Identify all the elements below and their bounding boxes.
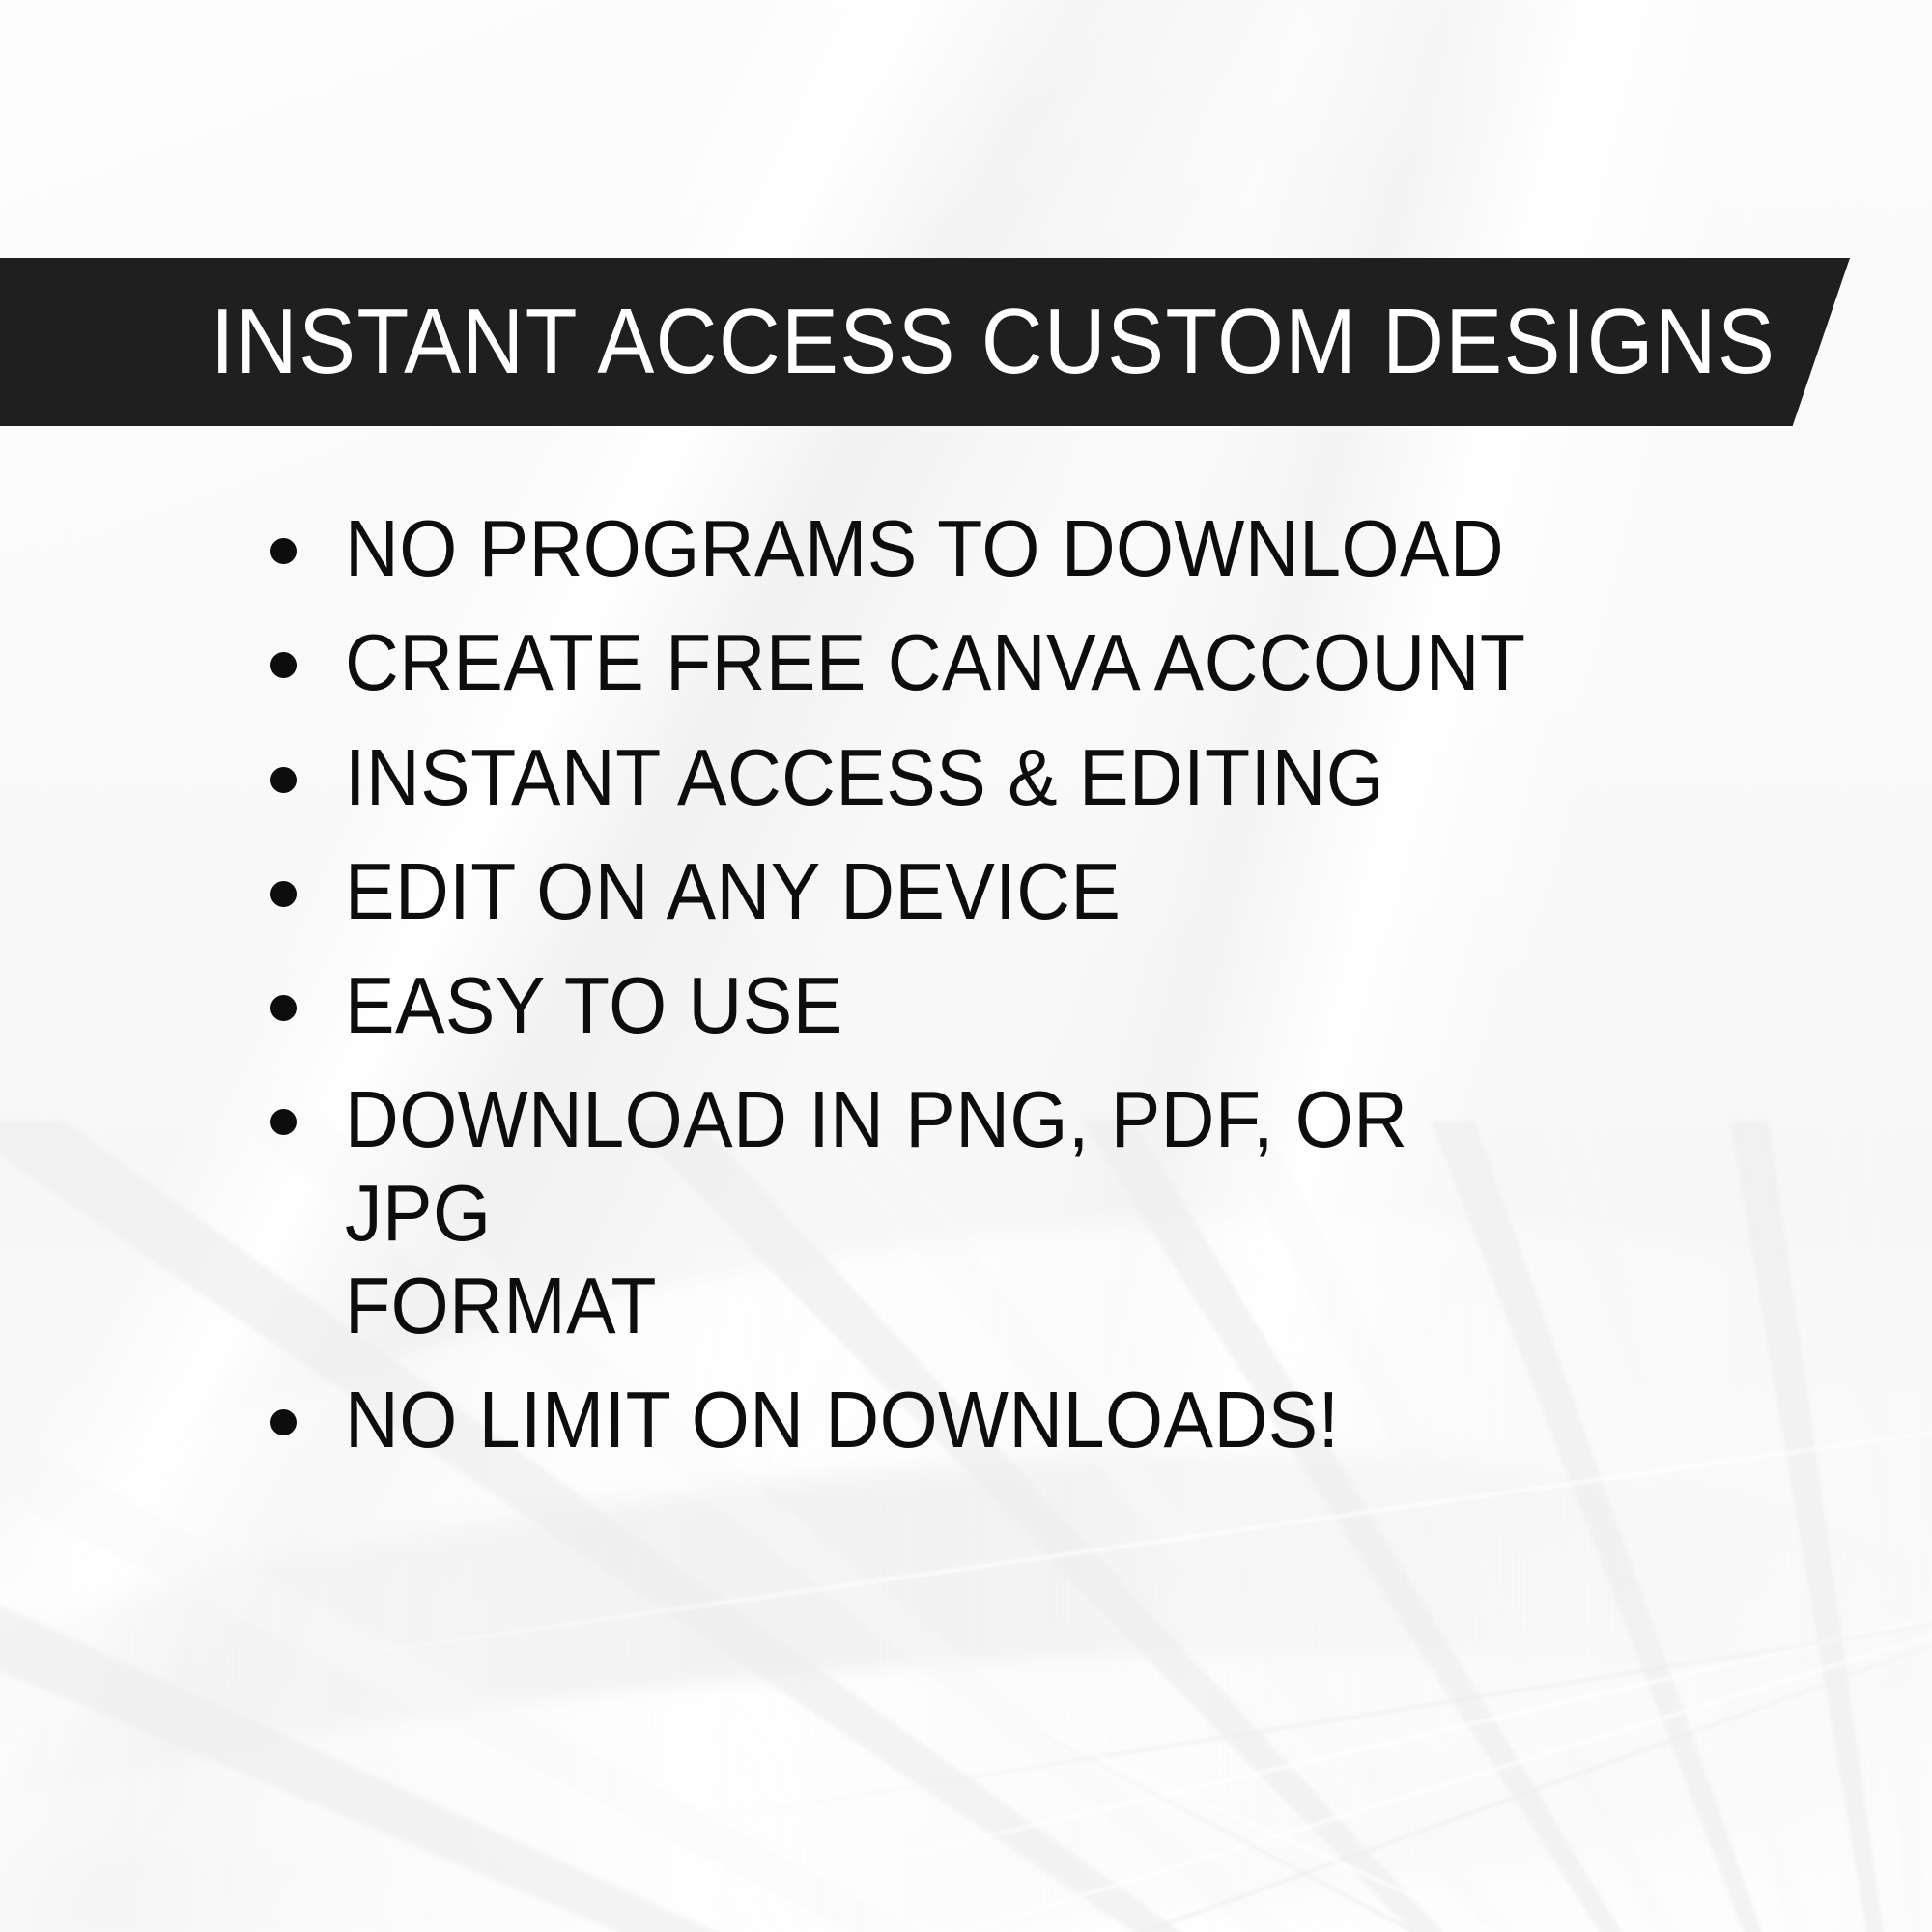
list-item-label: NO PROGRAMS TO DOWNLOAD xyxy=(345,502,1504,595)
bullet-dot-icon xyxy=(270,1409,297,1435)
list-item: EDIT ON ANY DEVICE xyxy=(270,845,1642,938)
bullet-dot-icon xyxy=(270,881,297,907)
list-item-label: INSTANT ACCESS & EDITING xyxy=(345,731,1384,824)
list-item-label: EASY TO USE xyxy=(345,959,843,1052)
bullet-dot-icon xyxy=(270,1109,297,1135)
bullet-dot-icon xyxy=(270,538,297,564)
list-item: NO LIMIT ON DOWNLOADS! xyxy=(270,1374,1642,1466)
header-banner: INSTANT ACCESS CUSTOM DESIGNS xyxy=(0,258,1850,426)
poster-canvas: INSTANT ACCESS CUSTOM DESIGNS NO PROGRAM… xyxy=(0,0,1932,1932)
feature-list: NO PROGRAMS TO DOWNLOAD CREATE FREE CANV… xyxy=(270,502,1642,1488)
bullet-dot-icon xyxy=(270,652,297,678)
list-item-label: EDIT ON ANY DEVICE xyxy=(345,845,1121,938)
list-item: DOWNLOAD IN PNG, PDF, OR JPG FORMAT xyxy=(270,1073,1642,1352)
list-item: CREATE FREE CANVA ACCOUNT xyxy=(270,616,1642,709)
list-item-label: NO LIMIT ON DOWNLOADS! xyxy=(345,1374,1340,1466)
list-item-label: DOWNLOAD IN PNG, PDF, OR JPG FORMAT xyxy=(345,1073,1551,1352)
list-item: EASY TO USE xyxy=(270,959,1642,1052)
bullet-dot-icon xyxy=(270,767,297,793)
list-item: NO PROGRAMS TO DOWNLOAD xyxy=(270,502,1642,595)
bullet-dot-icon xyxy=(270,995,297,1021)
page-title: INSTANT ACCESS CUSTOM DESIGNS xyxy=(211,296,1776,388)
list-item: INSTANT ACCESS & EDITING xyxy=(270,731,1642,824)
list-item-label: CREATE FREE CANVA ACCOUNT xyxy=(345,616,1526,709)
